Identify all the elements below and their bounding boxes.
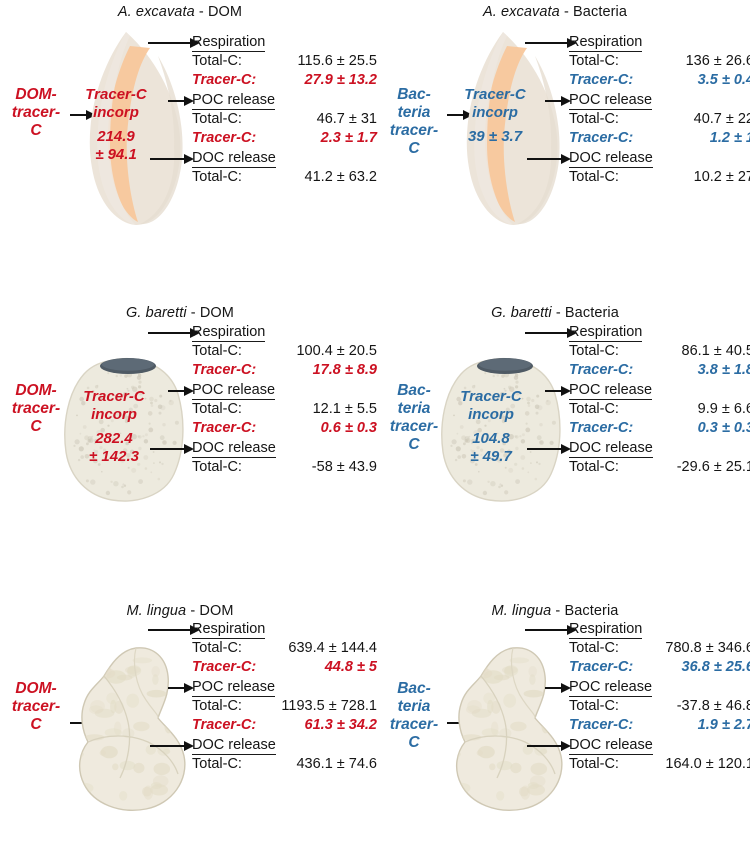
total-c-row: Total-C:10.2 ± 27	[569, 169, 750, 187]
total-c-label: Total-C:	[192, 169, 242, 187]
flux-block: DOC releaseTotal-C:164.0 ± 120.1	[569, 736, 750, 774]
flux-title: DOC release	[192, 737, 276, 755]
total-c-label: Total-C:	[192, 459, 242, 477]
total-c-row: Total-C:780.8 ± 346.6	[569, 640, 750, 658]
flux-title: Respiration	[569, 324, 642, 342]
total-c-label: Total-C:	[192, 53, 242, 71]
tracer-c-row: Tracer-C:27.9 ± 13.2	[192, 72, 377, 90]
flux-arrow-icon	[545, 94, 571, 108]
source-tracer-label: DOM- tracer- C	[2, 86, 70, 140]
flux-arrow-icon	[168, 384, 194, 398]
flux-arrow-poc-release	[168, 681, 194, 700]
flux-block: DOC releaseTotal-C:-29.6 ± 25.1	[569, 439, 750, 477]
tracer-c-label: Tracer-C:	[569, 659, 633, 677]
sponge-body-leaf	[455, 28, 565, 228]
sponge-body-blob	[435, 348, 570, 508]
flux-title: Respiration	[192, 34, 265, 52]
total-c-value: 115.6 ± 25.5	[298, 53, 377, 71]
total-c-row: Total-C:-37.8 ± 46.8	[569, 698, 750, 716]
total-c-row: Total-C:136 ± 26.6	[569, 53, 750, 71]
flux-arrow-icon	[527, 739, 571, 753]
total-c-label: Total-C:	[192, 756, 242, 774]
total-c-value: 1193.5 ± 728.1	[281, 698, 377, 716]
flux-block: RespirationTotal-C:780.8 ± 346.6Tracer-C…	[569, 620, 750, 677]
sponge-illustration	[58, 348, 193, 513]
panel-title: M. lingua - Bacteria	[375, 603, 735, 619]
flux-title: POC release	[569, 382, 652, 400]
tracer-c-value: 3.5 ± 0.4	[698, 72, 750, 90]
sponge-illustration	[439, 642, 579, 822]
species-name: A. excavata	[118, 4, 195, 20]
total-c-row: Total-C:1193.5 ± 728.1	[192, 698, 377, 716]
flux-arrow-icon	[527, 442, 571, 456]
total-c-label: Total-C:	[192, 640, 242, 658]
flux-arrow-poc-release	[168, 384, 194, 403]
total-c-label: Total-C:	[569, 111, 619, 129]
total-c-row: Total-C:46.7 ± 31	[192, 111, 377, 129]
total-c-row: Total-C:40.7 ± 22	[569, 111, 750, 129]
treatment-name: - Bacteria	[560, 4, 627, 20]
tracer-c-label: Tracer-C:	[192, 420, 256, 438]
tracer-c-value: 0.6 ± 0.3	[321, 420, 377, 438]
total-c-value: 9.9 ± 6.6	[698, 401, 750, 419]
flux-arrow-doc-release	[527, 442, 571, 461]
flux-arrow-poc-release	[545, 681, 571, 700]
total-c-value: 86.1 ± 40.5	[682, 343, 750, 361]
flux-title: Respiration	[569, 34, 642, 52]
flux-block: POC releaseTotal-C:46.7 ± 31Tracer-C:2.3…	[192, 91, 377, 148]
tracer-c-row: Tracer-C:1.2 ± 1	[569, 130, 750, 148]
flux-block: RespirationTotal-C:115.6 ± 25.5Tracer-C:…	[192, 33, 377, 90]
species-name: A. excavata	[483, 4, 560, 20]
total-c-value: 10.2 ± 27	[694, 169, 750, 187]
total-c-value: -58 ± 43.9	[312, 459, 377, 477]
tracer-c-row: Tracer-C:3.5 ± 0.4	[569, 72, 750, 90]
total-c-label: Total-C:	[569, 169, 619, 187]
treatment-name: - DOM	[186, 603, 233, 619]
total-c-label: Total-C:	[569, 698, 619, 716]
source-tracer-label: Bac- teria tracer- C	[380, 86, 448, 158]
flux-title: POC release	[569, 679, 652, 697]
tracer-c-row: Tracer-C:17.8 ± 8.9	[192, 362, 377, 380]
panel-g-baretti-bacteria: G. baretti - BacteriaBac- teria tracer- …	[375, 290, 750, 560]
total-c-value: 780.8 ± 346.6	[665, 640, 750, 658]
flux-arrow-doc-release	[527, 739, 571, 758]
flux-arrow-icon	[168, 94, 194, 108]
tracer-c-row: Tracer-C:1.9 ± 2.7	[569, 717, 750, 735]
total-c-row: Total-C:164.0 ± 120.1	[569, 756, 750, 774]
total-c-label: Total-C:	[569, 53, 619, 71]
tracer-c-label: Tracer-C:	[192, 72, 256, 90]
flux-arrow-icon	[168, 681, 194, 695]
tracer-c-value: 1.9 ± 2.7	[698, 717, 750, 735]
tracer-c-label: Tracer-C:	[192, 717, 256, 735]
total-c-row: Total-C:9.9 ± 6.6	[569, 401, 750, 419]
flux-title: POC release	[192, 92, 275, 110]
sponge-illustration	[62, 642, 202, 822]
flux-title: POC release	[192, 382, 275, 400]
species-name: M. lingua	[492, 603, 552, 619]
tracer-c-row: Tracer-C:0.3 ± 0.3	[569, 420, 750, 438]
total-c-row: Total-C:-29.6 ± 25.1	[569, 459, 750, 477]
treatment-name: - DOM	[187, 305, 234, 321]
total-c-value: 41.2 ± 63.2	[305, 169, 377, 187]
flux-block: RespirationTotal-C:86.1 ± 40.5Tracer-C:3…	[569, 323, 750, 380]
flux-title: Respiration	[192, 324, 265, 342]
tracer-c-value: 2.3 ± 1.7	[321, 130, 377, 148]
tracer-c-label: Tracer-C:	[569, 362, 633, 380]
sponge-illustration	[78, 28, 188, 233]
total-c-value: 436.1 ± 74.6	[296, 756, 377, 774]
total-c-value: -37.8 ± 46.8	[677, 698, 750, 716]
flux-title: DOC release	[192, 150, 276, 168]
total-c-label: Total-C:	[569, 401, 619, 419]
total-c-row: Total-C:100.4 ± 20.5	[192, 343, 377, 361]
sponge-body-blob	[58, 348, 193, 508]
total-c-label: Total-C:	[192, 698, 242, 716]
panel-title: A. excavata - Bacteria	[375, 4, 735, 20]
tracer-c-label: Tracer-C:	[569, 420, 633, 438]
flux-title: DOC release	[569, 737, 653, 755]
total-c-value: 46.7 ± 31	[317, 111, 377, 129]
tracer-c-value: 44.8 ± 5	[325, 659, 377, 677]
treatment-name: - DOM	[195, 4, 242, 20]
flux-block: POC releaseTotal-C:9.9 ± 6.6Tracer-C:0.3…	[569, 381, 750, 438]
tracer-c-row: Tracer-C:36.8 ± 25.6	[569, 659, 750, 677]
flux-arrow-icon	[150, 152, 194, 166]
total-c-row: Total-C:12.1 ± 5.5	[192, 401, 377, 419]
total-c-label: Total-C:	[192, 401, 242, 419]
flux-arrow-doc-release	[150, 442, 194, 461]
flux-block: DOC releaseTotal-C:41.2 ± 63.2	[192, 149, 377, 187]
total-c-label: Total-C:	[569, 343, 619, 361]
flux-arrow-icon	[545, 681, 571, 695]
tracer-c-row: Tracer-C:44.8 ± 5	[192, 659, 377, 677]
treatment-name: - Bacteria	[552, 305, 619, 321]
tracer-c-label: Tracer-C:	[192, 659, 256, 677]
panel-title: A. excavata - DOM	[0, 4, 360, 20]
species-name: G. baretti	[126, 305, 187, 321]
panel-m-lingua-dom: M. lingua - DOMDOM- tracer- C Respiratio…	[0, 580, 375, 850]
flux-block: RespirationTotal-C:136 ± 26.6Tracer-C:3.…	[569, 33, 750, 90]
flux-arrow-doc-release	[150, 739, 194, 758]
sponge-body-lobed	[439, 642, 579, 817]
sponge-illustration	[455, 28, 565, 233]
panel-g-baretti-dom: G. baretti - DOMDOM- tracer- C Tracer-C …	[0, 290, 375, 560]
flux-block: DOC releaseTotal-C:-58 ± 43.9	[192, 439, 377, 477]
flux-block: RespirationTotal-C:639.4 ± 144.4Tracer-C…	[192, 620, 377, 677]
flux-arrow-poc-release	[168, 94, 194, 113]
tracer-c-value: 17.8 ± 8.9	[313, 362, 377, 380]
panel-a-excavata-dom: A. excavata - DOMDOM- tracer- C Tracer-C…	[0, 0, 375, 270]
tracer-c-label: Tracer-C:	[569, 72, 633, 90]
flux-block: POC releaseTotal-C:40.7 ± 22Tracer-C:1.2…	[569, 91, 750, 148]
total-c-value: 12.1 ± 5.5	[313, 401, 377, 419]
panel-m-lingua-bacteria: M. lingua - BacteriaBac- teria tracer- C…	[375, 580, 750, 850]
tracer-c-row: Tracer-C:3.8 ± 1.8	[569, 362, 750, 380]
total-c-label: Total-C:	[569, 640, 619, 658]
flux-arrow-icon	[527, 152, 571, 166]
total-c-row: Total-C:115.6 ± 25.5	[192, 53, 377, 71]
total-c-value: 100.4 ± 20.5	[296, 343, 377, 361]
tracer-c-row: Tracer-C:61.3 ± 34.2	[192, 717, 377, 735]
flux-arrow-icon	[545, 384, 571, 398]
sponge-body-lobed	[62, 642, 202, 817]
flux-arrow-doc-release	[150, 152, 194, 171]
tracer-c-value: 1.2 ± 1	[710, 130, 750, 148]
panel-a-excavata-bacteria: A. excavata - BacteriaBac- teria tracer-…	[375, 0, 750, 270]
flux-title: POC release	[569, 92, 652, 110]
sponge-carbon-budget-figure: A. excavata - DOMDOM- tracer- C Tracer-C…	[0, 0, 750, 829]
flux-arrow-icon	[150, 442, 194, 456]
total-c-row: Total-C:436.1 ± 74.6	[192, 756, 377, 774]
flux-arrow-poc-release	[545, 384, 571, 403]
panel-title: G. baretti - Bacteria	[375, 305, 735, 321]
tracer-c-value: 27.9 ± 13.2	[305, 72, 377, 90]
total-c-value: 639.4 ± 144.4	[288, 640, 377, 658]
species-name: M. lingua	[126, 603, 186, 619]
flux-title: DOC release	[569, 440, 653, 458]
flux-title: DOC release	[192, 440, 276, 458]
tracer-c-value: 0.3 ± 0.3	[698, 420, 750, 438]
total-c-label: Total-C:	[192, 343, 242, 361]
tracer-c-label: Tracer-C:	[192, 362, 256, 380]
flux-title: Respiration	[569, 621, 642, 639]
treatment-name: - Bacteria	[551, 603, 618, 619]
total-c-value: -29.6 ± 25.1	[677, 459, 750, 477]
total-c-label: Total-C:	[569, 756, 619, 774]
total-c-value: 164.0 ± 120.1	[665, 756, 750, 774]
flux-arrow-poc-release	[545, 94, 571, 113]
tracer-c-row: Tracer-C:2.3 ± 1.7	[192, 130, 377, 148]
flux-arrow-icon	[150, 739, 194, 753]
flux-block: RespirationTotal-C:100.4 ± 20.5Tracer-C:…	[192, 323, 377, 380]
tracer-c-label: Tracer-C:	[569, 130, 633, 148]
flux-title: POC release	[192, 679, 275, 697]
tracer-c-value: 61.3 ± 34.2	[305, 717, 377, 735]
total-c-row: Total-C:-58 ± 43.9	[192, 459, 377, 477]
tracer-c-label: Tracer-C:	[192, 130, 256, 148]
tracer-c-value: 36.8 ± 25.6	[682, 659, 750, 677]
total-c-row: Total-C:41.2 ± 63.2	[192, 169, 377, 187]
flux-title: Respiration	[192, 621, 265, 639]
total-c-value: 40.7 ± 22	[694, 111, 750, 129]
flux-block: DOC releaseTotal-C:10.2 ± 27	[569, 149, 750, 187]
panel-title: G. baretti - DOM	[0, 305, 360, 321]
flux-block: DOC releaseTotal-C:436.1 ± 74.6	[192, 736, 377, 774]
total-c-value: 136 ± 26.6	[686, 53, 750, 71]
tracer-c-row: Tracer-C:0.6 ± 0.3	[192, 420, 377, 438]
total-c-label: Total-C:	[192, 111, 242, 129]
total-c-row: Total-C:639.4 ± 144.4	[192, 640, 377, 658]
flux-title: DOC release	[569, 150, 653, 168]
source-tracer-label: Bac- teria tracer- C	[380, 680, 448, 752]
flux-block: POC releaseTotal-C:1193.5 ± 728.1Tracer-…	[192, 678, 377, 735]
sponge-body-leaf	[78, 28, 188, 228]
total-c-label: Total-C:	[569, 459, 619, 477]
sponge-illustration	[435, 348, 570, 513]
tracer-c-value: 3.8 ± 1.8	[698, 362, 750, 380]
source-tracer-label: DOM- tracer- C	[2, 680, 70, 734]
panel-title: M. lingua - DOM	[0, 603, 360, 619]
species-name: G. baretti	[491, 305, 552, 321]
total-c-row: Total-C:86.1 ± 40.5	[569, 343, 750, 361]
flux-block: POC releaseTotal-C:-37.8 ± 46.8Tracer-C:…	[569, 678, 750, 735]
tracer-c-label: Tracer-C:	[569, 717, 633, 735]
flux-arrow-doc-release	[527, 152, 571, 171]
flux-block: POC releaseTotal-C:12.1 ± 5.5Tracer-C:0.…	[192, 381, 377, 438]
